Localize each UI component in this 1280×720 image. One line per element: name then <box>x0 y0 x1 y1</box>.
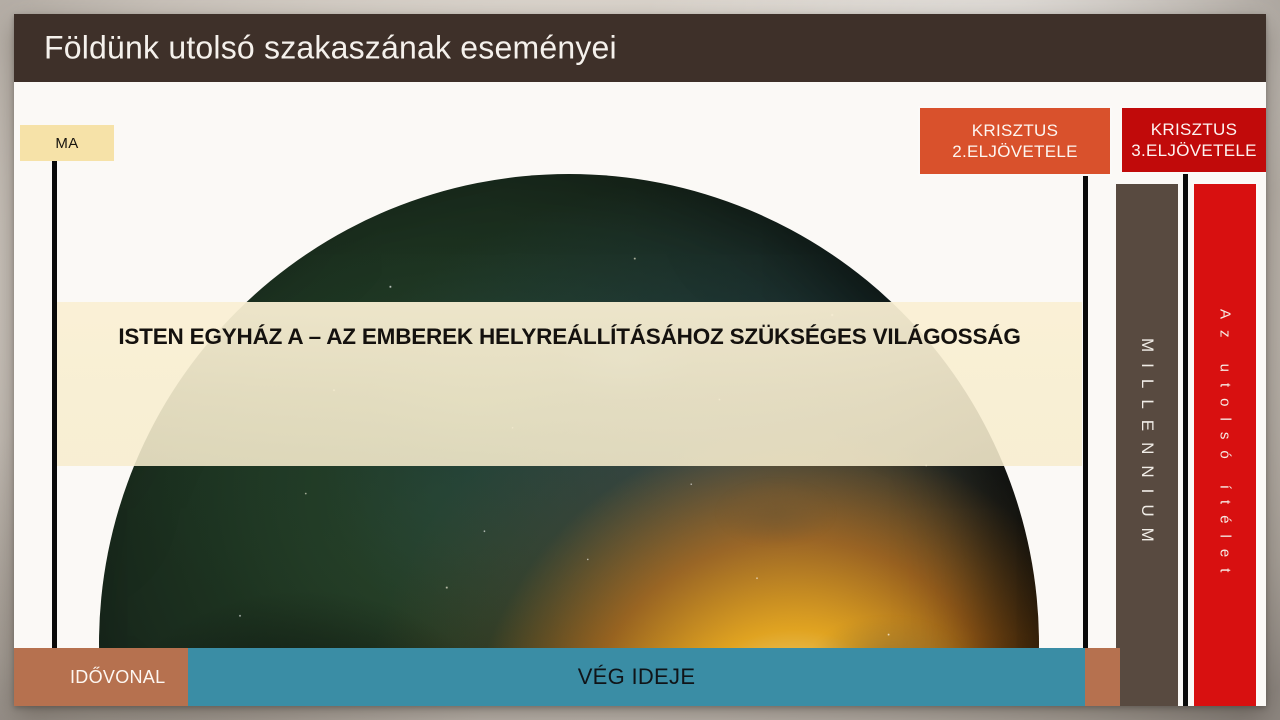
marker-second-coming: KRISZTUS 2.ELJÖVETELE <box>918 106 1112 176</box>
column-millennium-label: MILLENNIUM <box>1137 338 1157 553</box>
slide-title-bar: Földünk utolsó szakaszának eseményei <box>14 14 1266 82</box>
slide-canvas: ISTEN EGYHÁZ A – AZ EMBEREK HELYREÁLLÍTÁ… <box>14 82 1266 706</box>
marker-second-coming-line1: KRISZTUS <box>972 120 1058 141</box>
timeline-axis-label: IDŐVONAL <box>70 648 165 706</box>
presentation-stage: Földünk utolsó szakaszának eseményei IST… <box>0 0 1280 720</box>
marker-today-label: MA <box>55 135 78 152</box>
timeline-rule-third-coming <box>1183 174 1188 706</box>
timeline-bar: IDŐVONAL VÉG IDEJE <box>14 648 1266 706</box>
column-millennium: MILLENNIUM <box>1116 184 1178 706</box>
slide-title: Földünk utolsó szakaszának eseményei <box>44 30 617 67</box>
marker-third-coming-line2: 3.ELJÖVETELE <box>1131 140 1257 161</box>
marker-third-coming: KRISZTUS 3.ELJÖVETELE <box>1120 106 1266 174</box>
timeline-segment-label: VÉG IDEJE <box>188 648 1085 706</box>
marker-second-coming-line2: 2.ELJÖVETELE <box>952 141 1078 162</box>
timeline-rule-second-coming <box>1083 144 1088 706</box>
column-last-judgment: Az utolsó ítélet <box>1192 182 1258 706</box>
slide: Földünk utolsó szakaszának eseményei IST… <box>14 14 1266 706</box>
timeline-rule-today <box>52 144 57 706</box>
church-light-band: ISTEN EGYHÁZ A – AZ EMBEREK HELYREÁLLÍTÁ… <box>57 302 1082 466</box>
column-last-judgment-label: Az utolsó ítélet <box>1217 309 1234 583</box>
marker-third-coming-line1: KRISZTUS <box>1151 119 1237 140</box>
church-light-band-label: ISTEN EGYHÁZ A – AZ EMBEREK HELYREÁLLÍTÁ… <box>57 324 1082 350</box>
marker-today: MA <box>20 125 114 161</box>
